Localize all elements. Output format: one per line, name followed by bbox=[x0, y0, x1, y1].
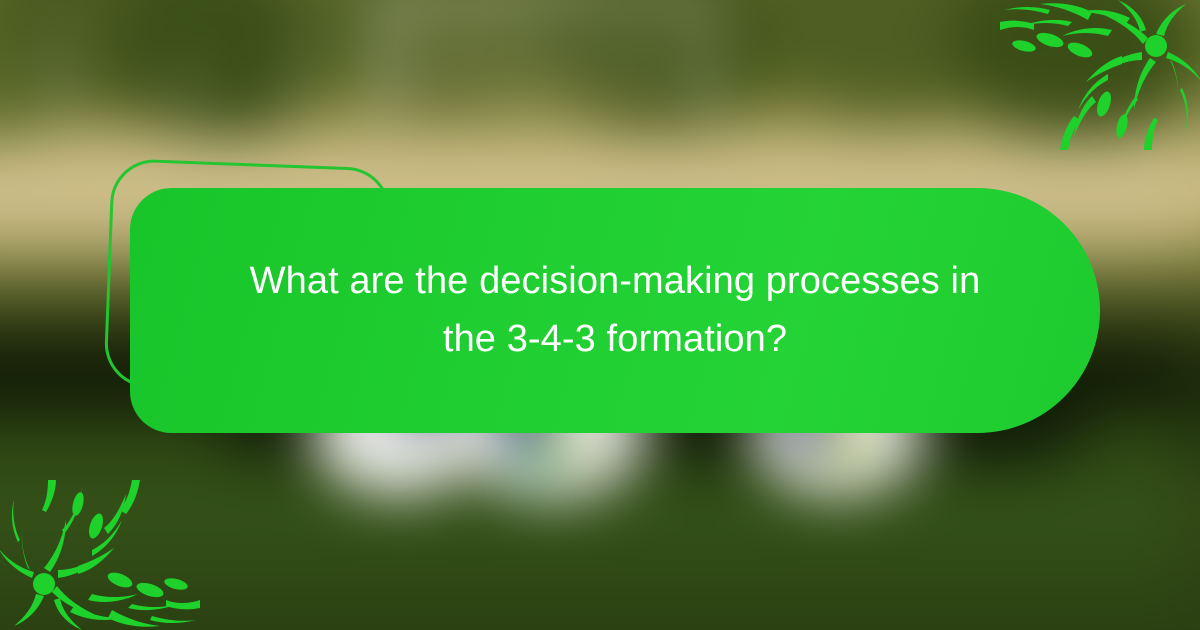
soccer-goal bbox=[380, 0, 712, 121]
background-post bbox=[186, 44, 194, 122]
background-post bbox=[56, 36, 65, 120]
question-text: What are the decision-making processes i… bbox=[235, 253, 995, 369]
background-post bbox=[291, 28, 299, 120]
ball-patch bbox=[522, 438, 552, 472]
question-card-graphic: What are the decision-making processes i… bbox=[0, 0, 1200, 630]
question-card[interactable]: What are the decision-making processes i… bbox=[130, 188, 1100, 433]
